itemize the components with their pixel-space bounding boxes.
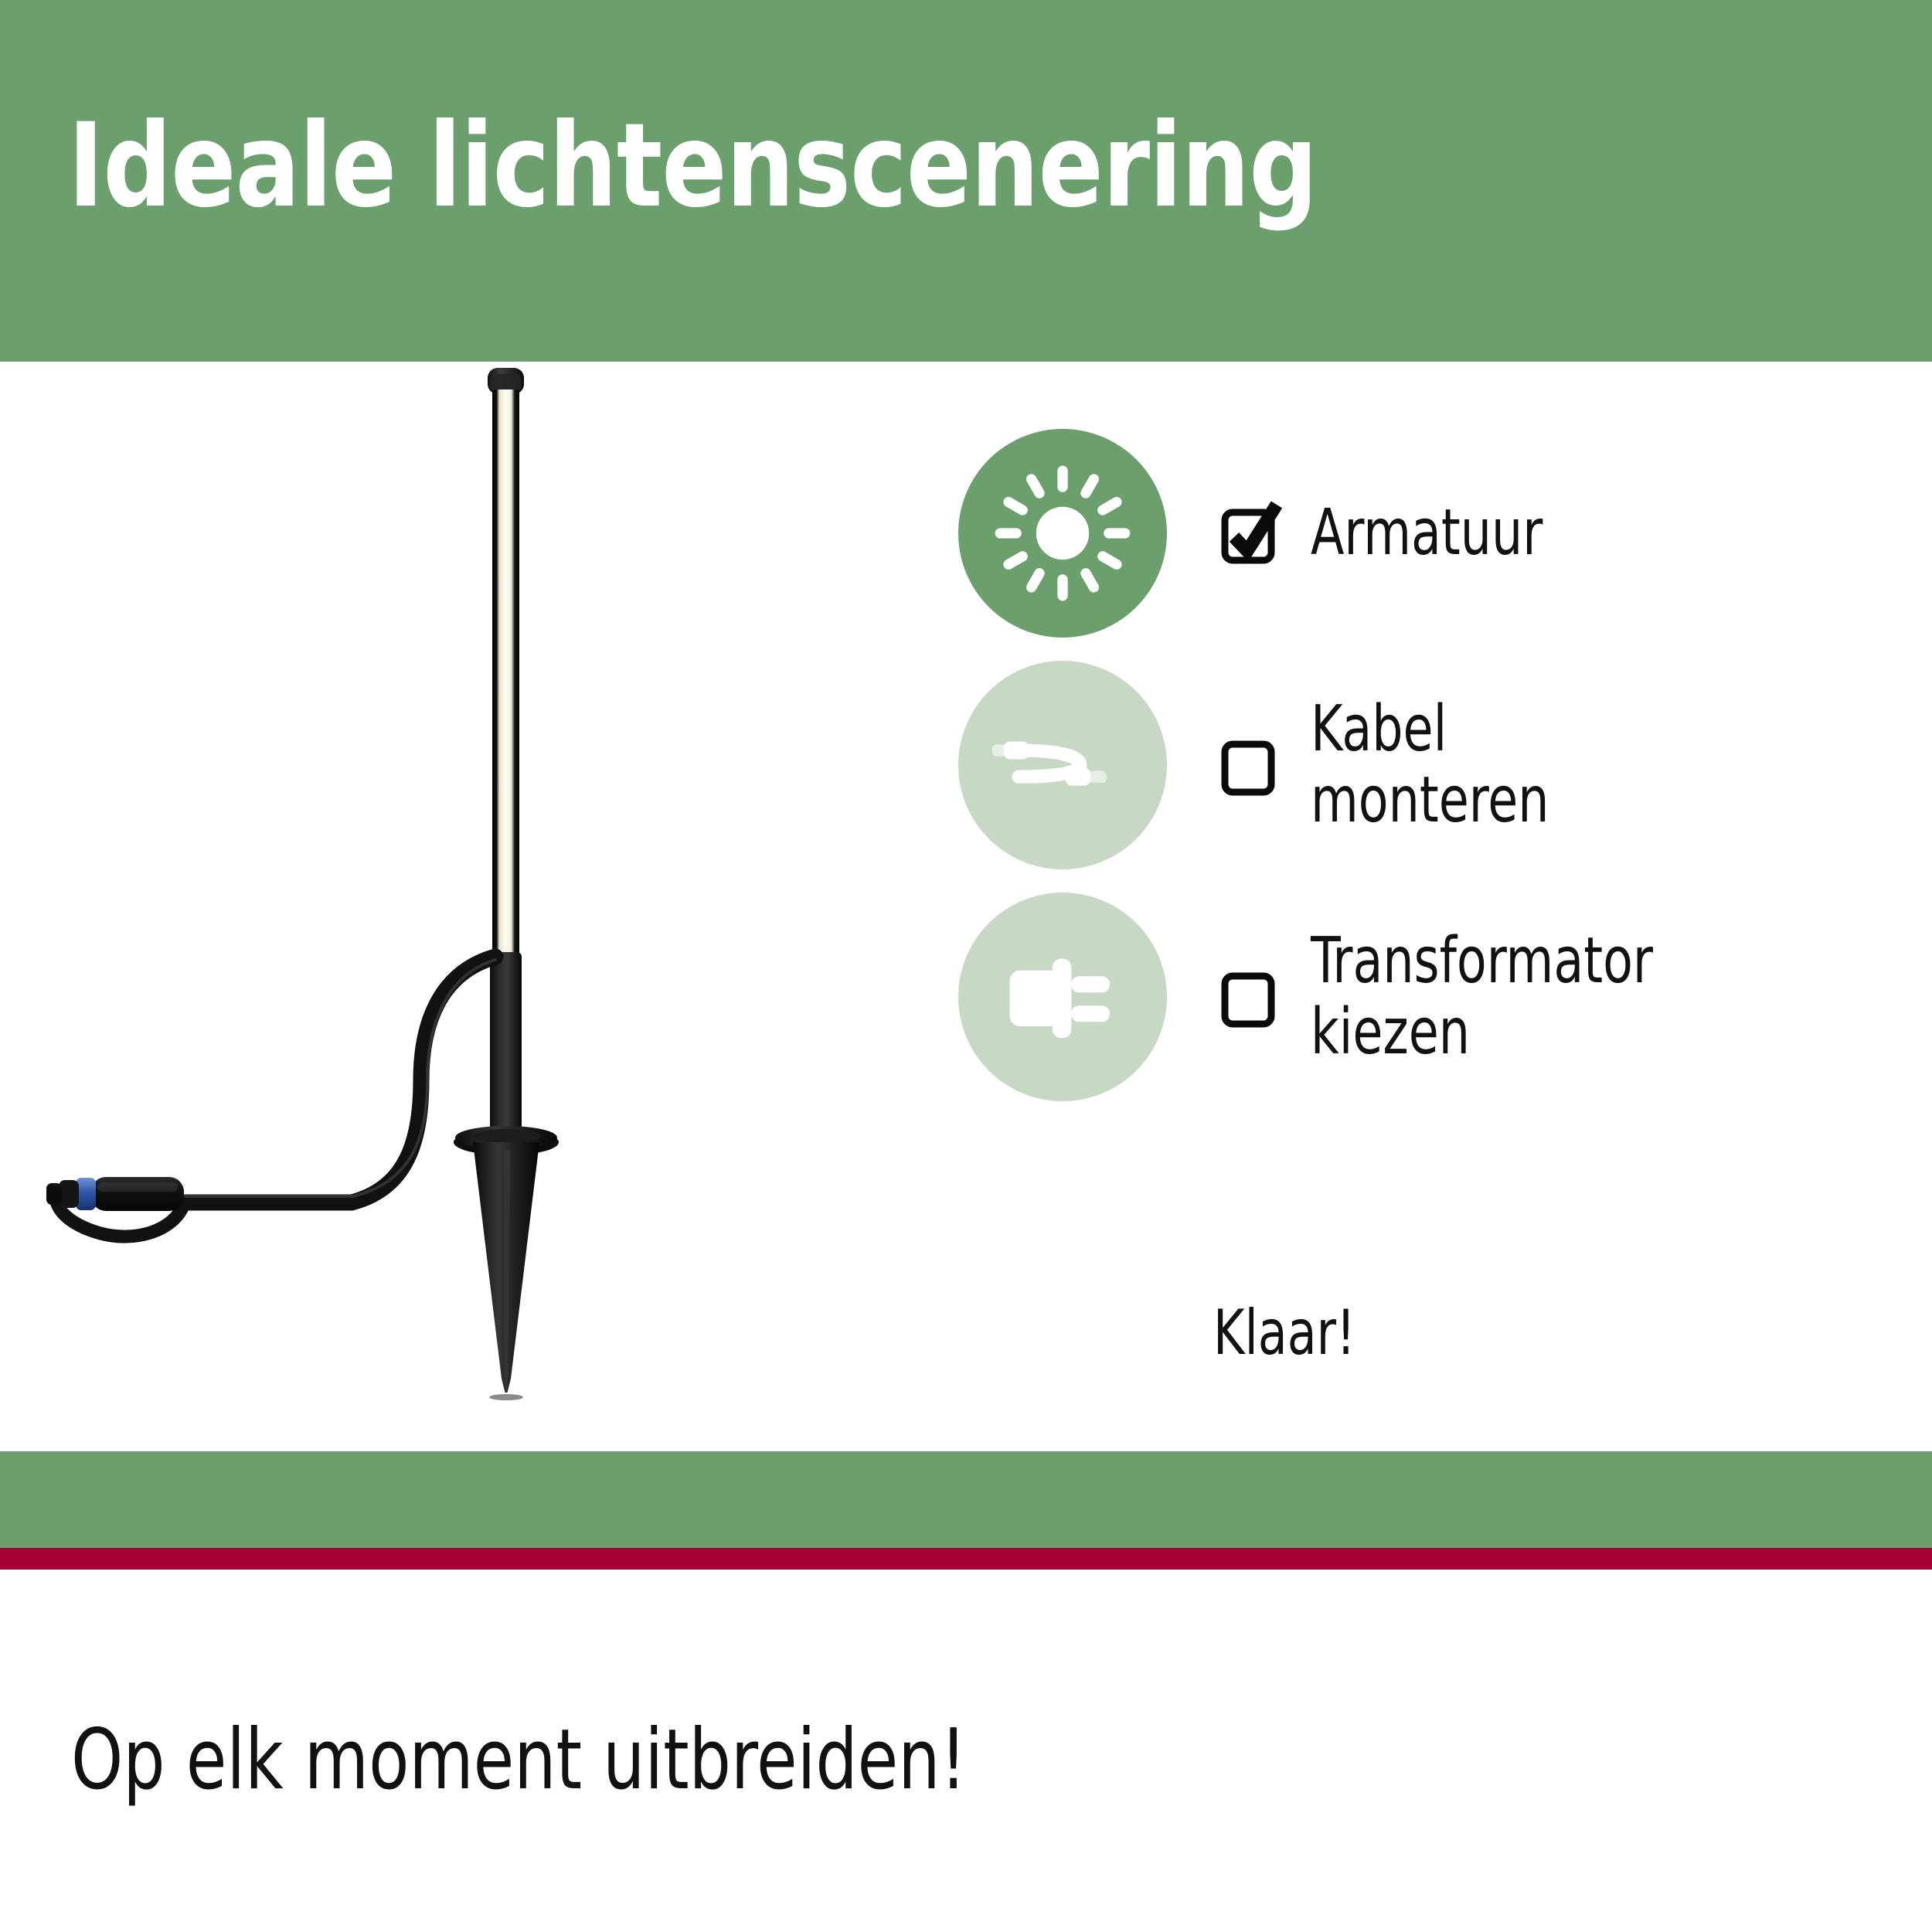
icon-circle-kabel [958,661,1167,869]
sun-icon [989,460,1136,607]
power-plug-icon [989,923,1136,1070]
icon-circle-armatuur [958,429,1167,638]
red-accent-band [0,1548,1932,1570]
checklist-item-kabel-right: Kabel monteren [1221,694,1588,836]
checklist-item-transformator[interactable]: Transformator kiezen [958,881,1932,1113]
checkbox-armatuur-checked[interactable] [1221,500,1281,566]
infographic-page: Ideale lichtenscenering [0,0,1932,1932]
cable-connector [46,1177,184,1211]
checklist-item-armatuur[interactable]: Armatuur [958,417,1932,649]
header-band: Ideale lichtenscenering [0,0,1932,362]
page-title: Ideale lichtenscenering [68,108,1317,224]
product-image [0,362,951,1451]
garden-pole-light-illustration [0,362,951,1451]
green-divider-band [0,1451,1932,1548]
checklist-done-label: Klaar! [1213,1297,1355,1369]
checklist-item-transformator-right: Transformator kiezen [1221,926,1709,1068]
icon-circle-transformator [958,893,1167,1101]
checkbox-empty-icon [1221,732,1281,798]
cable-icon [989,692,1136,838]
footer-tagline: Op elk moment uitbreiden! [71,1712,967,1808]
checkbox-empty-icon [1221,964,1281,1030]
checklist-item-kabel[interactable]: Kabel monteren [958,649,1932,881]
lamp-light-tube [492,389,519,961]
checklist-item-label-transformator: Transformator kiezen [1311,926,1653,1068]
checklist: Armatuur Kabel montere [958,417,1932,1113]
checklist-item-label-kabel: Kabel monteren [1311,694,1549,836]
checkbox-kabel-unchecked[interactable] [1221,732,1281,798]
lamp-lower-pole [490,952,522,1145]
checklist-item-armatuur-right: Armatuur [1221,498,1580,569]
checklist-item-label-armatuur: Armatuur [1311,498,1543,569]
checkbox-checked-icon [1221,500,1281,566]
checkbox-transformator-unchecked[interactable] [1221,964,1281,1030]
